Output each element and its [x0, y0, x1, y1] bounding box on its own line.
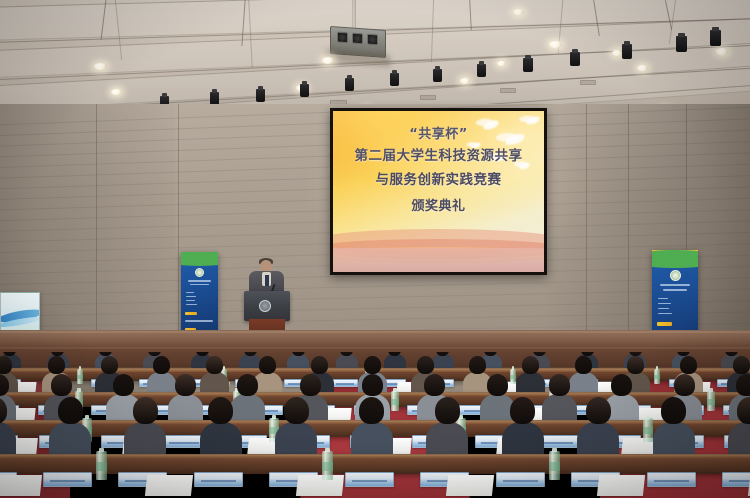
audience-member-head [153, 356, 170, 374]
ceiling-downlight [549, 41, 562, 48]
ceiling-downlight [111, 89, 122, 95]
document-paper [145, 475, 193, 496]
delegate-name-card [722, 472, 750, 487]
slide-line-1: “共享杯” [333, 123, 544, 142]
water-bottle [96, 451, 107, 480]
water-bottle [77, 369, 83, 384]
delegate-name-card [647, 472, 696, 487]
audience-member-head [311, 356, 328, 374]
ceiling-downlight [497, 61, 506, 66]
water-bottle [707, 391, 715, 411]
document-paper [296, 475, 344, 496]
audience-member-head [469, 356, 486, 374]
audience-member-head [737, 397, 750, 424]
audience-member-head [661, 397, 686, 424]
document-paper [0, 475, 42, 496]
audience-member-head [549, 374, 570, 396]
projection-screen: “共享杯” 第二届大学生科技资源共享 与服务创新实践竞赛 颁奖典礼 [330, 108, 547, 275]
audience-seating [0, 352, 750, 498]
ceiling-downlight [460, 78, 470, 84]
ceiling-spotlight [390, 73, 399, 86]
audience-member-head [175, 374, 196, 396]
water-bottle [643, 418, 653, 442]
ceiling-spotlight [477, 64, 486, 77]
audience-member-head [575, 356, 592, 374]
audience-member-head [733, 356, 750, 374]
ceiling-spotlight [256, 89, 265, 102]
audience-member-head [627, 356, 644, 374]
document-paper [597, 475, 645, 496]
audience-member-head [359, 397, 384, 424]
audience-member-head [611, 374, 632, 396]
audience-member-head [424, 374, 445, 396]
water-bottle [322, 451, 333, 480]
auditorium-photo: “共享杯” 第二届大学生科技资源共享 与服务创新实践竞赛 颁奖典礼 [0, 0, 750, 498]
ceiling-downlight [513, 9, 524, 15]
audience-member-head [51, 374, 72, 396]
audience-member-head [680, 356, 697, 374]
audience-member-head [113, 374, 134, 396]
audience-member-head [58, 397, 83, 424]
slide-line-2: 第二届大学生科技资源共享 [333, 144, 544, 164]
slide-line-3: 与服务创新实践竞赛 [333, 168, 544, 188]
audience-member-head [522, 356, 539, 374]
projector-mount [352, 0, 356, 30]
delegate-name-card [194, 472, 243, 487]
audience-member-head [48, 356, 65, 374]
audience-member-head [435, 397, 460, 424]
ceiling-downlight [612, 50, 622, 56]
ceiling-downlight [637, 65, 648, 71]
delegate-name-card [163, 435, 205, 448]
audience-member-head [736, 374, 750, 396]
audience-member-head [284, 397, 309, 424]
slide-surface: “共享杯” 第二届大学生科技资源共享 与服务创新实践竞赛 颁奖典礼 [333, 111, 544, 272]
ceiling-downlight [716, 48, 728, 55]
audience-member-head [259, 356, 276, 374]
water-bottle [654, 369, 660, 384]
ceiling-downlight [322, 57, 334, 64]
audience-member-head [364, 356, 381, 374]
delegate-name-card [332, 379, 358, 387]
delegate-name-card [43, 472, 92, 487]
ceiling [0, 0, 750, 112]
ceiling-spotlight [523, 58, 533, 72]
ceiling-downlight [94, 63, 107, 70]
ceiling-spotlight [433, 69, 442, 82]
audience-member-head [133, 397, 158, 424]
document-paper [446, 475, 494, 496]
audience-member-head [0, 356, 12, 374]
audience-member-head [362, 374, 383, 396]
delegate-name-card [345, 472, 394, 487]
audience-member-head [674, 374, 695, 396]
audience-member-head [237, 374, 258, 396]
ceiling-spotlight [710, 30, 721, 46]
speaker-tie [265, 275, 269, 286]
water-bottle [549, 451, 560, 480]
ceiling-spotlight [300, 84, 309, 97]
lectern-emblem [259, 300, 271, 312]
ceiling-spotlight [622, 44, 632, 59]
audience-member-head [101, 356, 118, 374]
audience-member-head [300, 374, 321, 396]
ceiling-spotlight [345, 78, 354, 91]
audience-desk-row [0, 454, 750, 474]
audience-member-head [510, 397, 535, 424]
slide-line-4: 颁奖典礼 [333, 195, 544, 214]
water-bottle [391, 391, 399, 411]
ceiling-spotlight [570, 52, 580, 66]
delegate-name-card [496, 472, 545, 487]
ceiling-spotlight [676, 36, 687, 52]
audience-member-head [417, 356, 434, 374]
audience-member-head [586, 397, 611, 424]
audience-member-head [487, 374, 508, 396]
audience-member-head [208, 397, 233, 424]
audience-member-head [206, 356, 223, 374]
